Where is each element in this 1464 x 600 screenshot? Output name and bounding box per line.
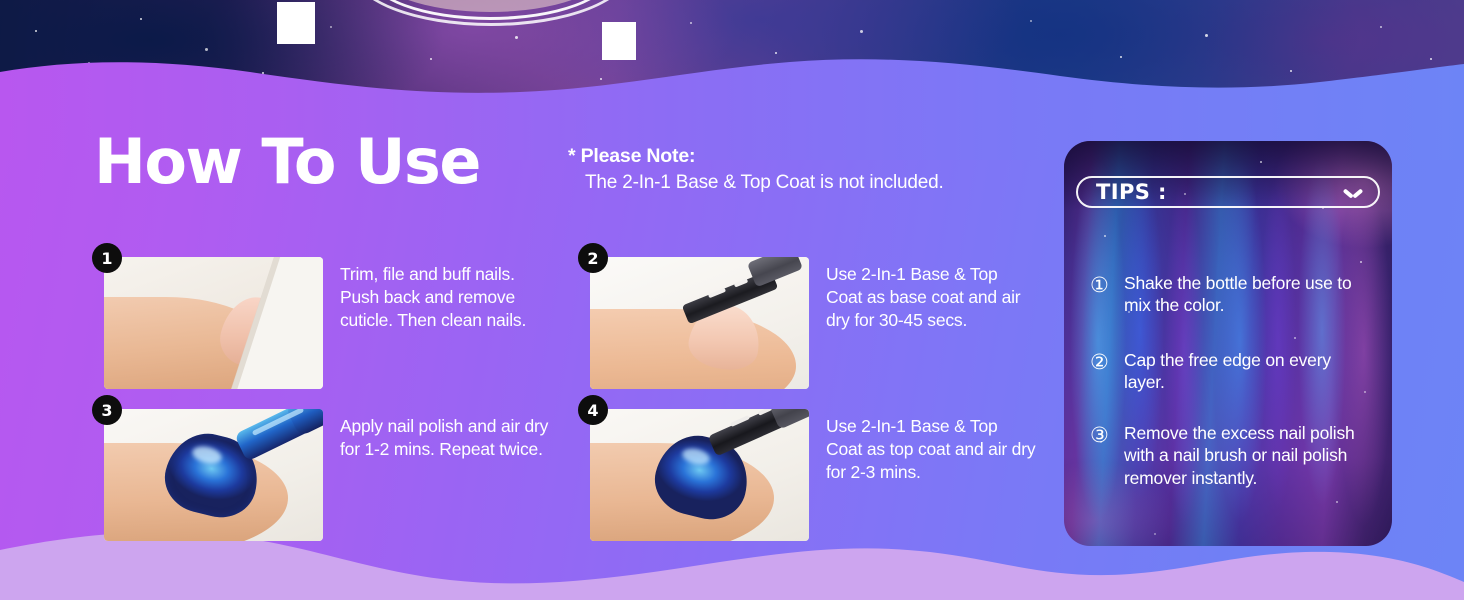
please-note-block: * Please Note: The 2-In-1 Base & Top Coa… bbox=[568, 144, 1038, 195]
photo-base-coat-brush bbox=[590, 257, 809, 389]
tip-text-3: Remove the excess nail polish with a nai… bbox=[1124, 422, 1374, 489]
photo-buffing-nail bbox=[104, 257, 323, 389]
photo-top-coat-brush bbox=[590, 409, 809, 541]
tip-text-1: Shake the bottle before use to mix the c… bbox=[1124, 272, 1374, 317]
step-2-text: Use 2-In-1 Base & Top Coat as base coat … bbox=[826, 263, 1036, 332]
photo-applying-blue-polish bbox=[104, 409, 323, 541]
step-4: 4 Use 2-In-1 Base & Top Coat as top coat… bbox=[578, 409, 1038, 541]
tip-marker-1: ① bbox=[1090, 272, 1124, 317]
step-badge-4: 4 bbox=[578, 395, 608, 425]
chevron-down-icon[interactable] bbox=[1344, 187, 1362, 197]
how-to-use-banner: How To Use * Please Note: The 2-In-1 Bas… bbox=[0, 0, 1464, 600]
step-1: 1 Trim, file and buff nails. Push back a… bbox=[92, 257, 552, 389]
note-body: The 2-In-1 Base & Top Coat is not includ… bbox=[568, 170, 1038, 195]
step-4-text: Use 2-In-1 Base & Top Coat as top coat a… bbox=[826, 415, 1036, 484]
note-heading: * Please Note: bbox=[568, 144, 1038, 170]
step-1-text: Trim, file and buff nails. Push back and… bbox=[340, 263, 550, 332]
tips-header-label: TIPS : bbox=[1096, 180, 1167, 204]
tip-item-2: ② Cap the free edge on every layer. bbox=[1090, 349, 1390, 394]
tips-header-toggle[interactable]: TIPS : bbox=[1076, 176, 1380, 208]
tip-item-1: ① Shake the bottle before use to mix the… bbox=[1090, 272, 1390, 317]
step-3-text: Apply nail polish and air dry for 1-2 mi… bbox=[340, 415, 550, 461]
step-2: 2 Use 2-In-1 Base & Top Coat as base coa… bbox=[578, 257, 1038, 389]
tip-text-2: Cap the free edge on every layer. bbox=[1124, 349, 1374, 394]
tip-item-3: ③ Remove the excess nail polish with a n… bbox=[1090, 422, 1390, 489]
step-badge-2: 2 bbox=[578, 243, 608, 273]
tip-marker-2: ② bbox=[1090, 349, 1124, 394]
step-badge-1: 1 bbox=[92, 243, 122, 273]
step-badge-3: 3 bbox=[92, 395, 122, 425]
tips-card: TIPS : ① Shake the bottle before use to … bbox=[1064, 141, 1392, 546]
tip-marker-3: ③ bbox=[1090, 422, 1124, 489]
page-title: How To Use bbox=[94, 131, 480, 193]
step-3: 3 Apply nail polish and air dry for 1-2 … bbox=[92, 409, 552, 541]
